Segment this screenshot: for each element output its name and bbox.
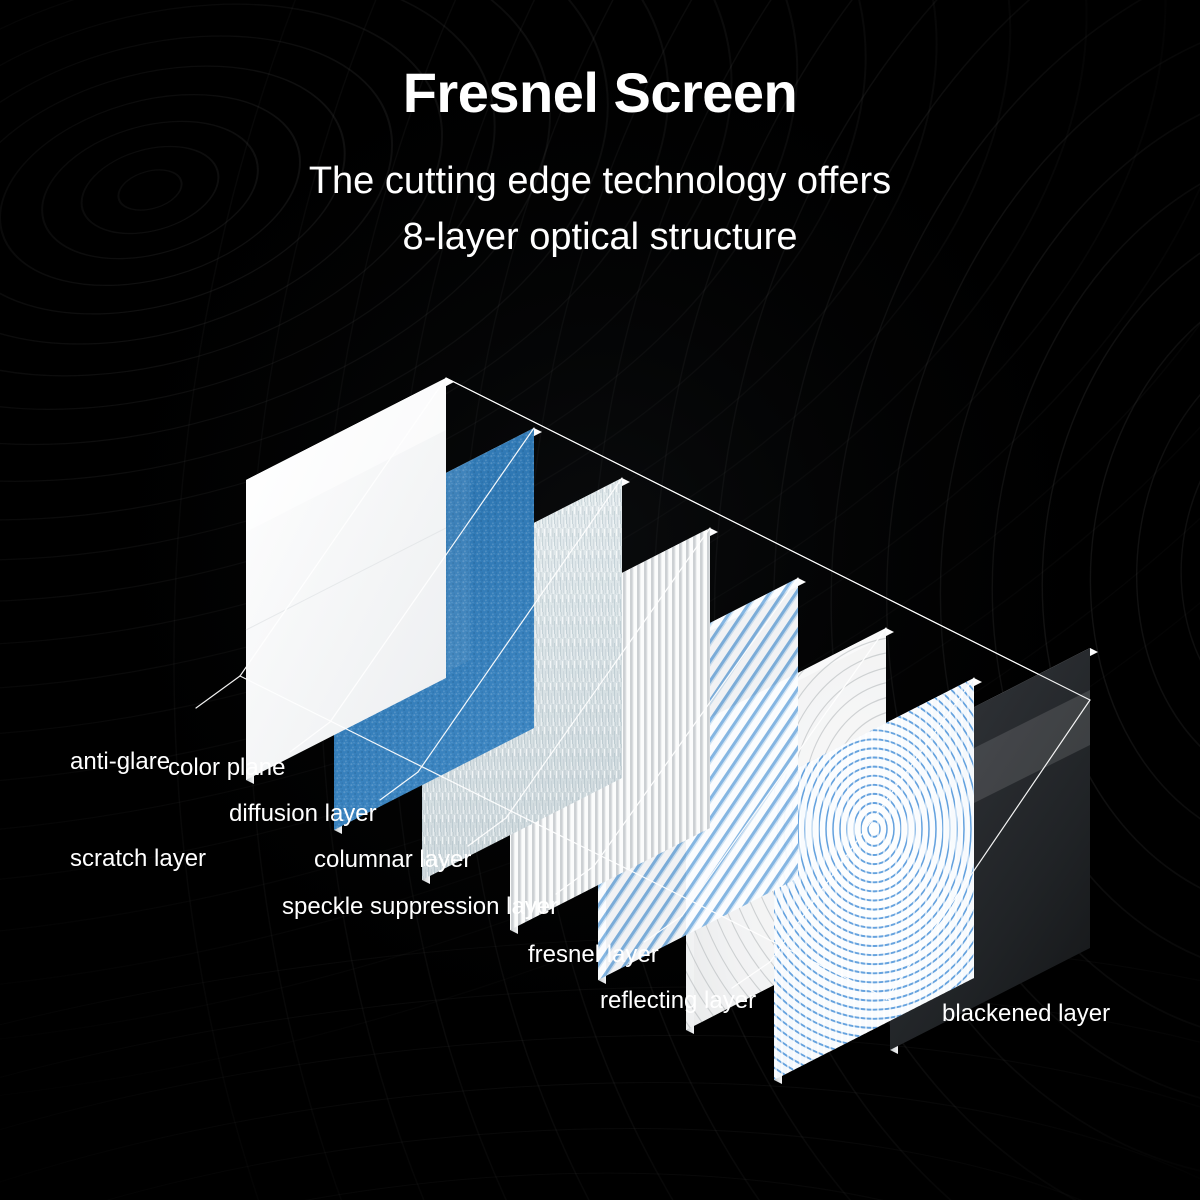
label-anti-glare-scratch-layer: anti-glare scratch layer — [70, 682, 206, 939]
fresnel-screen-infographic: Fresnel Screen The cutting edge technolo… — [0, 0, 1200, 1200]
label-diffusion-layer: diffusion layer — [229, 798, 377, 830]
label-line: scratch layer — [70, 843, 206, 875]
label-speckle-suppression-layer: speckle suppression layer — [282, 891, 558, 923]
label-color-plane: color plane — [168, 752, 285, 784]
label-columnar-layer: columnar layer — [314, 844, 471, 876]
label-reflecting-layer: reflecting layer — [600, 985, 756, 1017]
label-fresnel-layer: fresnel layer — [528, 939, 659, 971]
label-blackened-layer: blackened layer — [942, 998, 1110, 1030]
